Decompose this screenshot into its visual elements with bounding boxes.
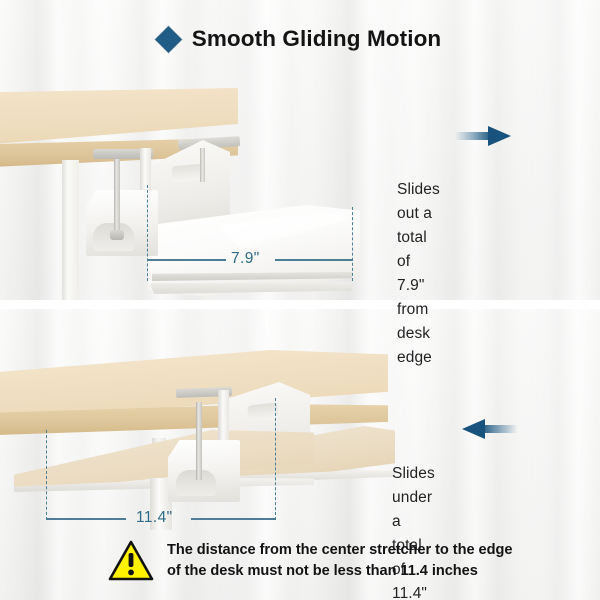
dimension-label-top: 7.9"	[231, 250, 260, 268]
arrow-right-icon	[455, 125, 511, 147]
dimension-extension-left-top	[147, 185, 148, 281]
tray-front-lip	[150, 282, 352, 294]
dimension-line-left-bottom	[47, 518, 126, 520]
desktop-surface	[0, 88, 238, 146]
dimension-line-left-top	[148, 259, 226, 261]
arrow-left-icon	[460, 418, 518, 440]
clamp-screw-2	[196, 402, 202, 480]
diamond-icon	[155, 26, 182, 53]
panel-divider	[0, 300, 600, 309]
dimension-extension-left-bottom	[46, 430, 47, 520]
callout-text-slide-out: Slides out a total of 7.9" from desk edg…	[397, 178, 440, 370]
warning-text: The distance from the center stretcher t…	[167, 540, 512, 582]
dimension-extension-right-bottom	[275, 398, 276, 520]
mount-arm-slot	[171, 164, 203, 183]
clamp-screw	[114, 159, 120, 237]
page-title: Smooth Gliding Motion	[192, 26, 442, 52]
header: Smooth Gliding Motion	[0, 22, 600, 56]
dimension-line-right-top	[275, 259, 353, 261]
warning-triangle-icon	[108, 540, 154, 582]
clamp-screw-head	[110, 230, 124, 240]
dimension-line-right-bottom	[191, 518, 276, 520]
dimension-extension-right-top	[352, 207, 353, 281]
mount-screw-rear	[200, 148, 205, 182]
product-photo-slide-under	[0, 330, 395, 530]
warning-note: The distance from the center stretcher t…	[108, 540, 512, 582]
infographic-root: Smooth Gliding Motion 7.9"	[0, 0, 600, 600]
desk-leg	[62, 160, 79, 300]
product-photo-slide-out	[0, 60, 380, 300]
dimension-label-bottom: 11.4"	[136, 509, 173, 527]
